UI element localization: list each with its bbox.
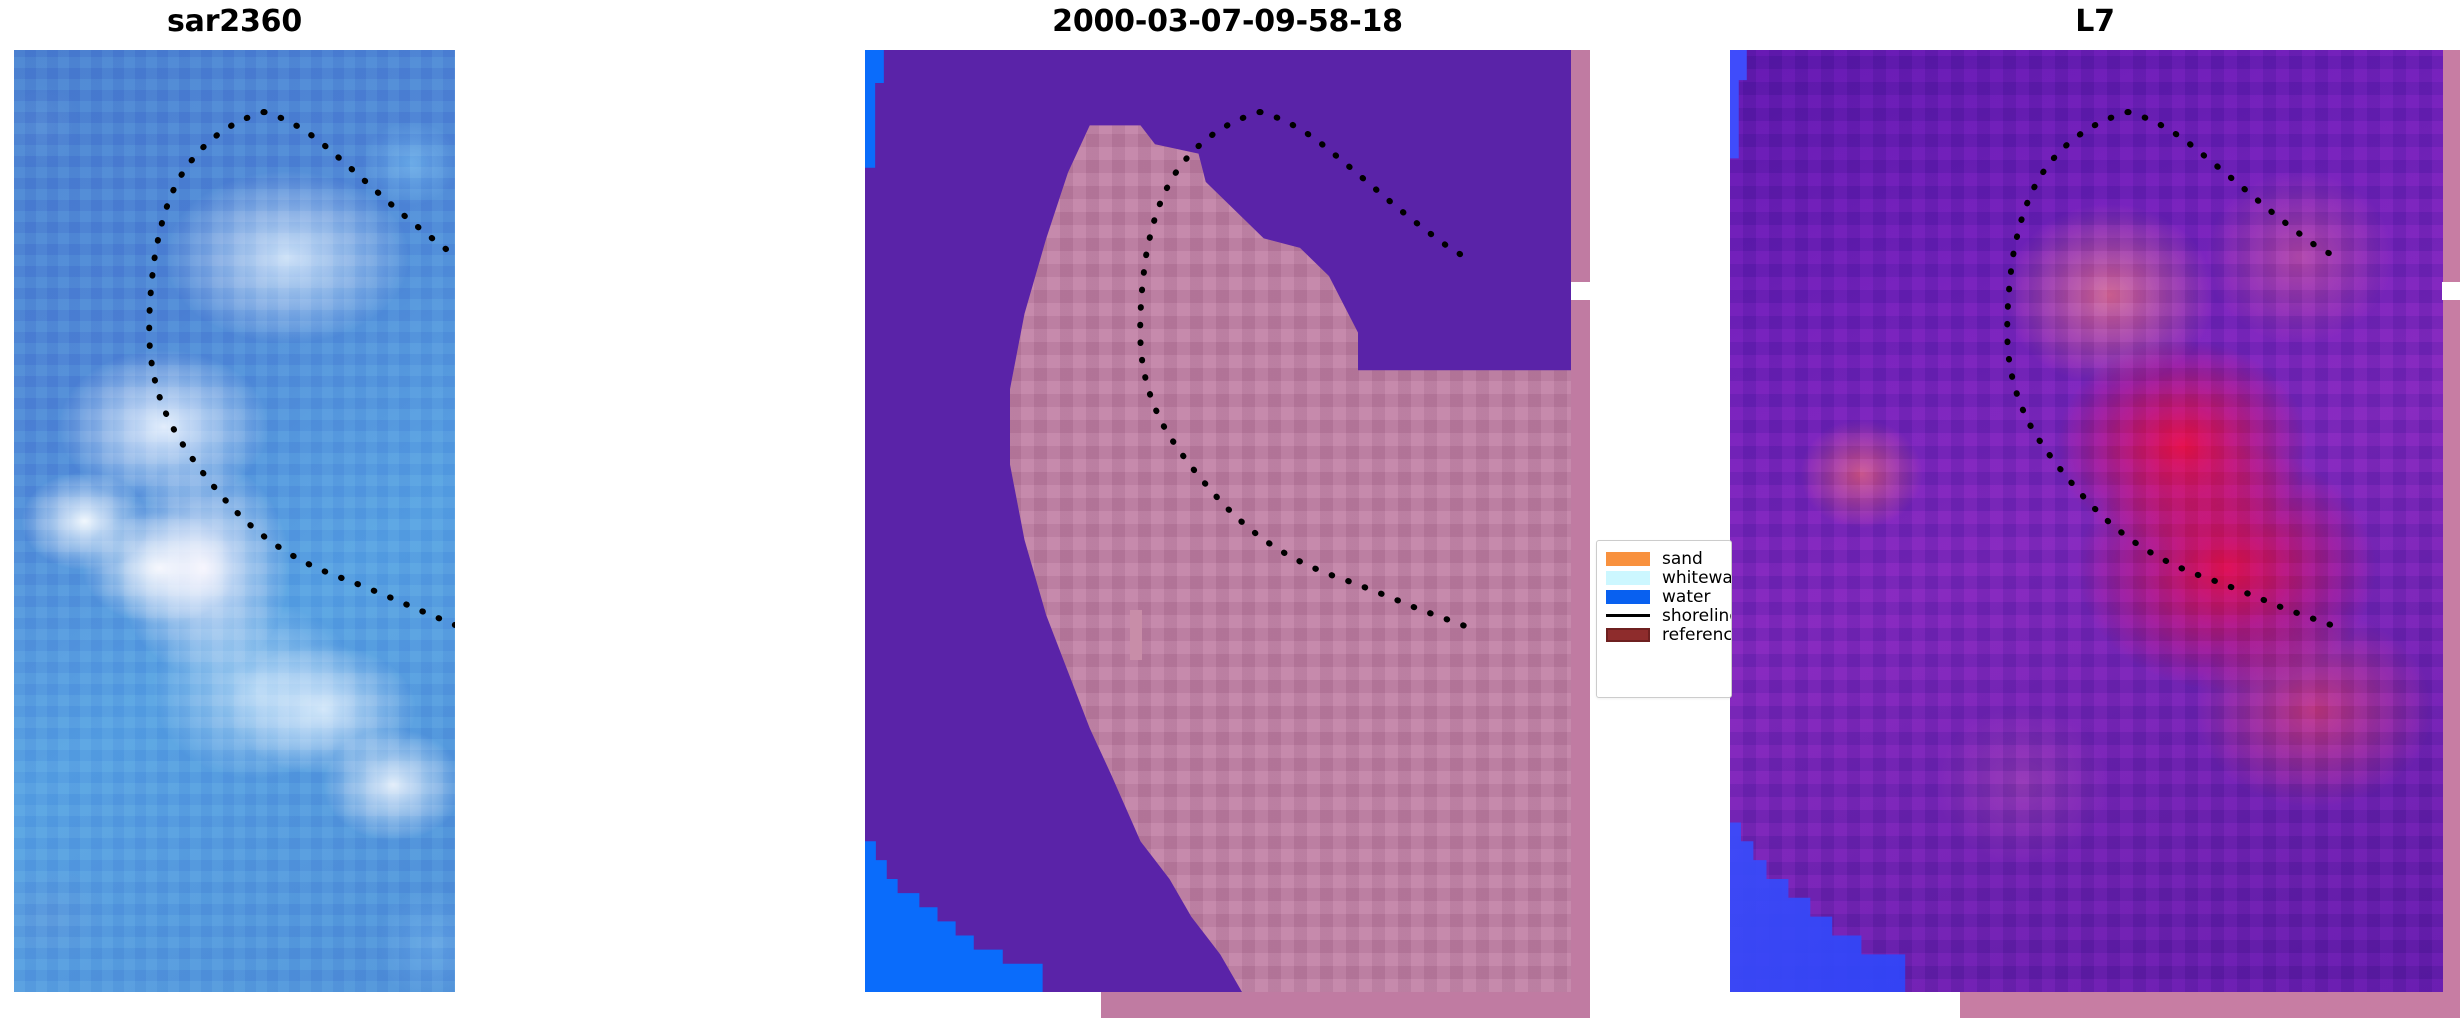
l7-reference-strip-notch (2442, 282, 2460, 300)
shoreline-line-icon (1606, 614, 1650, 617)
panel-sar2360: sar2360 (14, 0, 455, 992)
reference-shoreline-strip-bottom (1101, 992, 1590, 1018)
l7-reference-strip-bottom (1960, 992, 2460, 1018)
isolated-land-pixel (1130, 610, 1142, 660)
panel-l7: L7 (1730, 0, 2460, 1000)
panel-title-classification: 2000-03-07-09-58-18 (865, 4, 1590, 39)
l7-reference-strip-right (2443, 50, 2460, 992)
legend-item-water[interactable]: water (1606, 587, 1731, 606)
sand-swatch-icon (1606, 552, 1650, 566)
legend-item-reference-shoreline[interactable]: reference shoreline (1606, 625, 1731, 644)
l7-pixel-noise (1730, 50, 2460, 992)
axes-l7[interactable] (1730, 50, 2460, 992)
legend-box: sand whitewater water shoreline referenc… (1596, 540, 1732, 698)
legend-label-shoreline: shoreline (1662, 606, 1732, 626)
reference-shoreline-swatch-icon (1606, 628, 1650, 642)
legend-label-whitewater: whitewater (1662, 568, 1732, 588)
reference-strip-notch (1571, 282, 1590, 300)
figure-canvas: sar2360 2000-03-07-09-58-18 (0, 0, 2460, 1027)
water-swatch-icon (1606, 590, 1650, 604)
whitewater-swatch-icon (1606, 571, 1650, 585)
legend-label-water: water (1662, 587, 1710, 607)
panel-classification: 2000-03-07-09-58-18 (865, 0, 1590, 1000)
axes-sar2360[interactable] (14, 50, 455, 992)
axes-classification[interactable] (865, 50, 1590, 992)
sar-pixel-noise (14, 50, 455, 992)
panel-title-sar2360: sar2360 (14, 4, 455, 39)
panel-title-l7: L7 (1730, 4, 2460, 39)
legend-label-reference-shoreline: reference shoreline (1662, 625, 1732, 645)
legend-item-whitewater[interactable]: whitewater (1606, 568, 1731, 587)
legend-item-sand[interactable]: sand (1606, 549, 1731, 568)
legend-item-shoreline[interactable]: shoreline (1606, 606, 1731, 625)
reference-shoreline-strip-right (1571, 50, 1590, 992)
legend-label-sand: sand (1662, 549, 1703, 569)
